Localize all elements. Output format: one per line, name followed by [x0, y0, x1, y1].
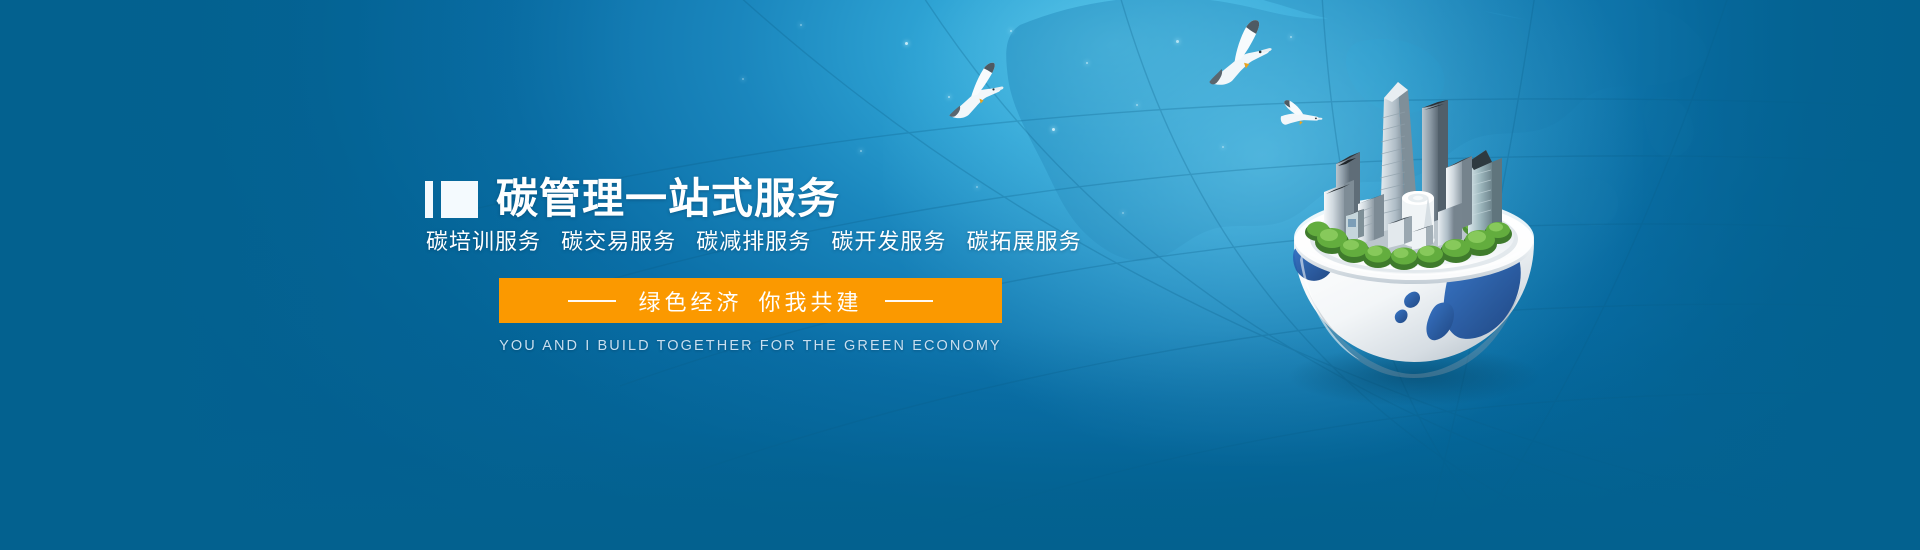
english-tagline: YOU AND I BUILD TOGETHER FOR THE GREEN E…	[499, 338, 1002, 354]
dash-right-icon	[885, 300, 933, 302]
service-item-5: 碳拓展服务	[967, 229, 1082, 254]
slogan-text: 绿色经济你我共建	[638, 285, 862, 317]
slogan-part-2: 你我共建	[759, 290, 863, 315]
bar-square-mark-icon	[425, 181, 478, 218]
title-row: 碳管理一站式服务	[425, 178, 1165, 220]
banner-copy: 碳管理一站式服务 碳培训服务 碳交易服务 碳减排服务 碳开发服务 碳拓展服务 绿…	[425, 178, 1165, 354]
slogan-part-1: 绿色经济	[638, 290, 742, 315]
service-item-3: 碳减排服务	[696, 229, 811, 254]
mark-bar-icon	[425, 181, 433, 218]
seagull-icon-left	[938, 58, 1007, 121]
page-title: 碳管理一站式服务	[496, 178, 840, 220]
dash-left-icon	[568, 300, 616, 302]
carbon-management-banner: 碳管理一站式服务 碳培训服务 碳交易服务 碳减排服务 碳开发服务 碳拓展服务 绿…	[0, 0, 1920, 550]
globe-city-artwork	[1262, 46, 1562, 406]
service-list: 碳培训服务 碳交易服务 碳减排服务 碳开发服务 碳拓展服务	[426, 224, 1165, 256]
service-item-2: 碳交易服务	[561, 229, 676, 254]
service-item-4: 碳开发服务	[831, 229, 946, 254]
mark-square-icon	[441, 181, 478, 218]
service-item-1: 碳培训服务	[426, 229, 541, 254]
slogan-bar: 绿色经济你我共建	[499, 278, 1002, 323]
